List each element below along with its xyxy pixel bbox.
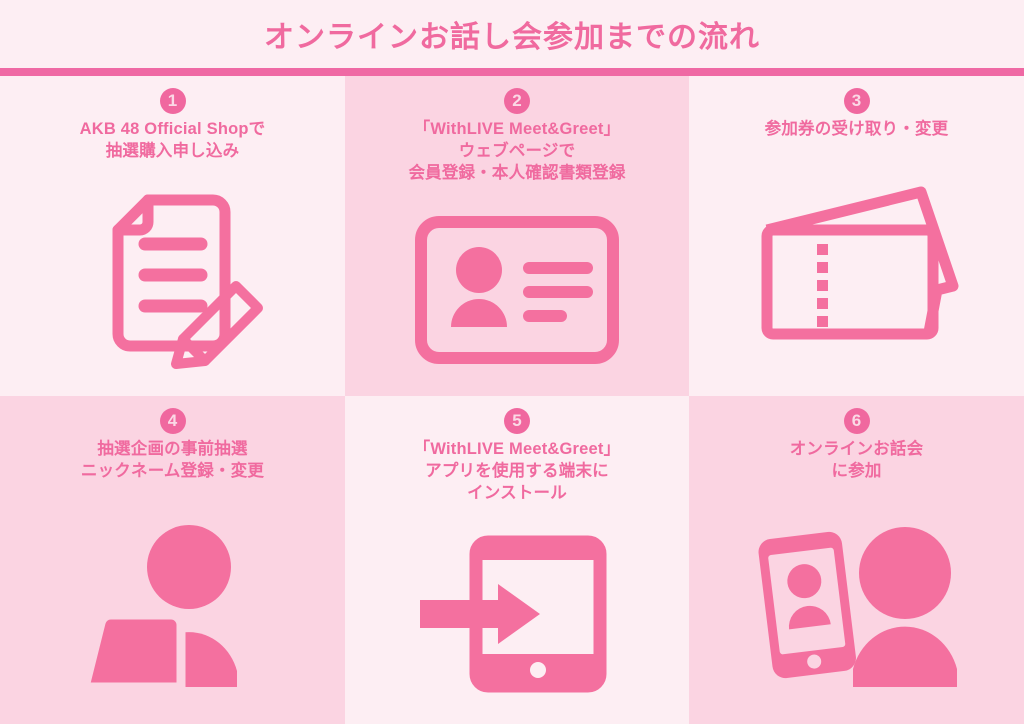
step-card-1: 1 AKB 48 Official Shopで 抽選購入申し込み — [0, 76, 345, 396]
page-header: オンラインお話し会参加までの流れ — [0, 0, 1024, 68]
step-card-3: 3 参加券の受け取り・変更 — [689, 76, 1024, 396]
step-illustration-4 — [0, 483, 345, 724]
step-caption-5: 「WithLIVE Meet&Greet」 アプリを使用する端末に インストール — [414, 439, 621, 505]
step-card-6: 6 オンラインお話会 に参加 — [689, 396, 1024, 724]
step-caption-4: 抽選企画の事前抽選 ニックネーム登録・変更 — [81, 439, 264, 483]
step-number-badge-1: 1 — [160, 88, 186, 114]
step-illustration-3 — [689, 141, 1024, 396]
step-illustration-5 — [345, 505, 689, 724]
page-title: オンラインお話し会参加までの流れ — [264, 12, 760, 56]
tickets-icon — [749, 182, 965, 354]
infographic-page: オンラインお話し会参加までの流れ 1 AKB 48 Official Shopで… — [0, 0, 1024, 724]
step-illustration-2 — [345, 185, 689, 396]
step-caption-2: 「WithLIVE Meet&Greet」 ウェブページで 会員登録・本人確認書… — [408, 119, 625, 185]
step-number-badge-5: 5 — [504, 408, 530, 434]
steps-grid: 1 AKB 48 Official Shopで 抽選購入申し込み — [0, 76, 1024, 724]
id-card-icon — [413, 214, 621, 366]
step-number-badge-2: 2 — [504, 88, 530, 114]
step-card-4: 4 抽選企画の事前抽選 ニックネーム登録・変更 — [0, 396, 345, 724]
video-call-person-icon — [749, 519, 965, 687]
step-caption-6: オンラインお話会 に参加 — [790, 439, 924, 483]
step-number-badge-6: 6 — [844, 408, 870, 434]
step-card-2: 2 「WithLIVE Meet&Greet」 ウェブページで 会員登録・本人確… — [345, 76, 689, 396]
install-to-tablet-icon — [410, 528, 624, 700]
step-card-5: 5 「WithLIVE Meet&Greet」 アプリを使用する端末に インスト… — [345, 396, 689, 724]
document-with-pencil-icon — [73, 182, 273, 377]
person-at-laptop-icon — [67, 519, 279, 687]
step-illustration-6 — [689, 483, 1024, 724]
header-divider-rule — [0, 68, 1024, 76]
step-caption-3: 参加券の受け取り・変更 — [765, 119, 949, 141]
step-number-badge-3: 3 — [844, 88, 870, 114]
step-caption-1: AKB 48 Official Shopで 抽選購入申し込み — [80, 119, 266, 163]
step-illustration-1 — [0, 163, 345, 396]
step-number-badge-4: 4 — [160, 408, 186, 434]
